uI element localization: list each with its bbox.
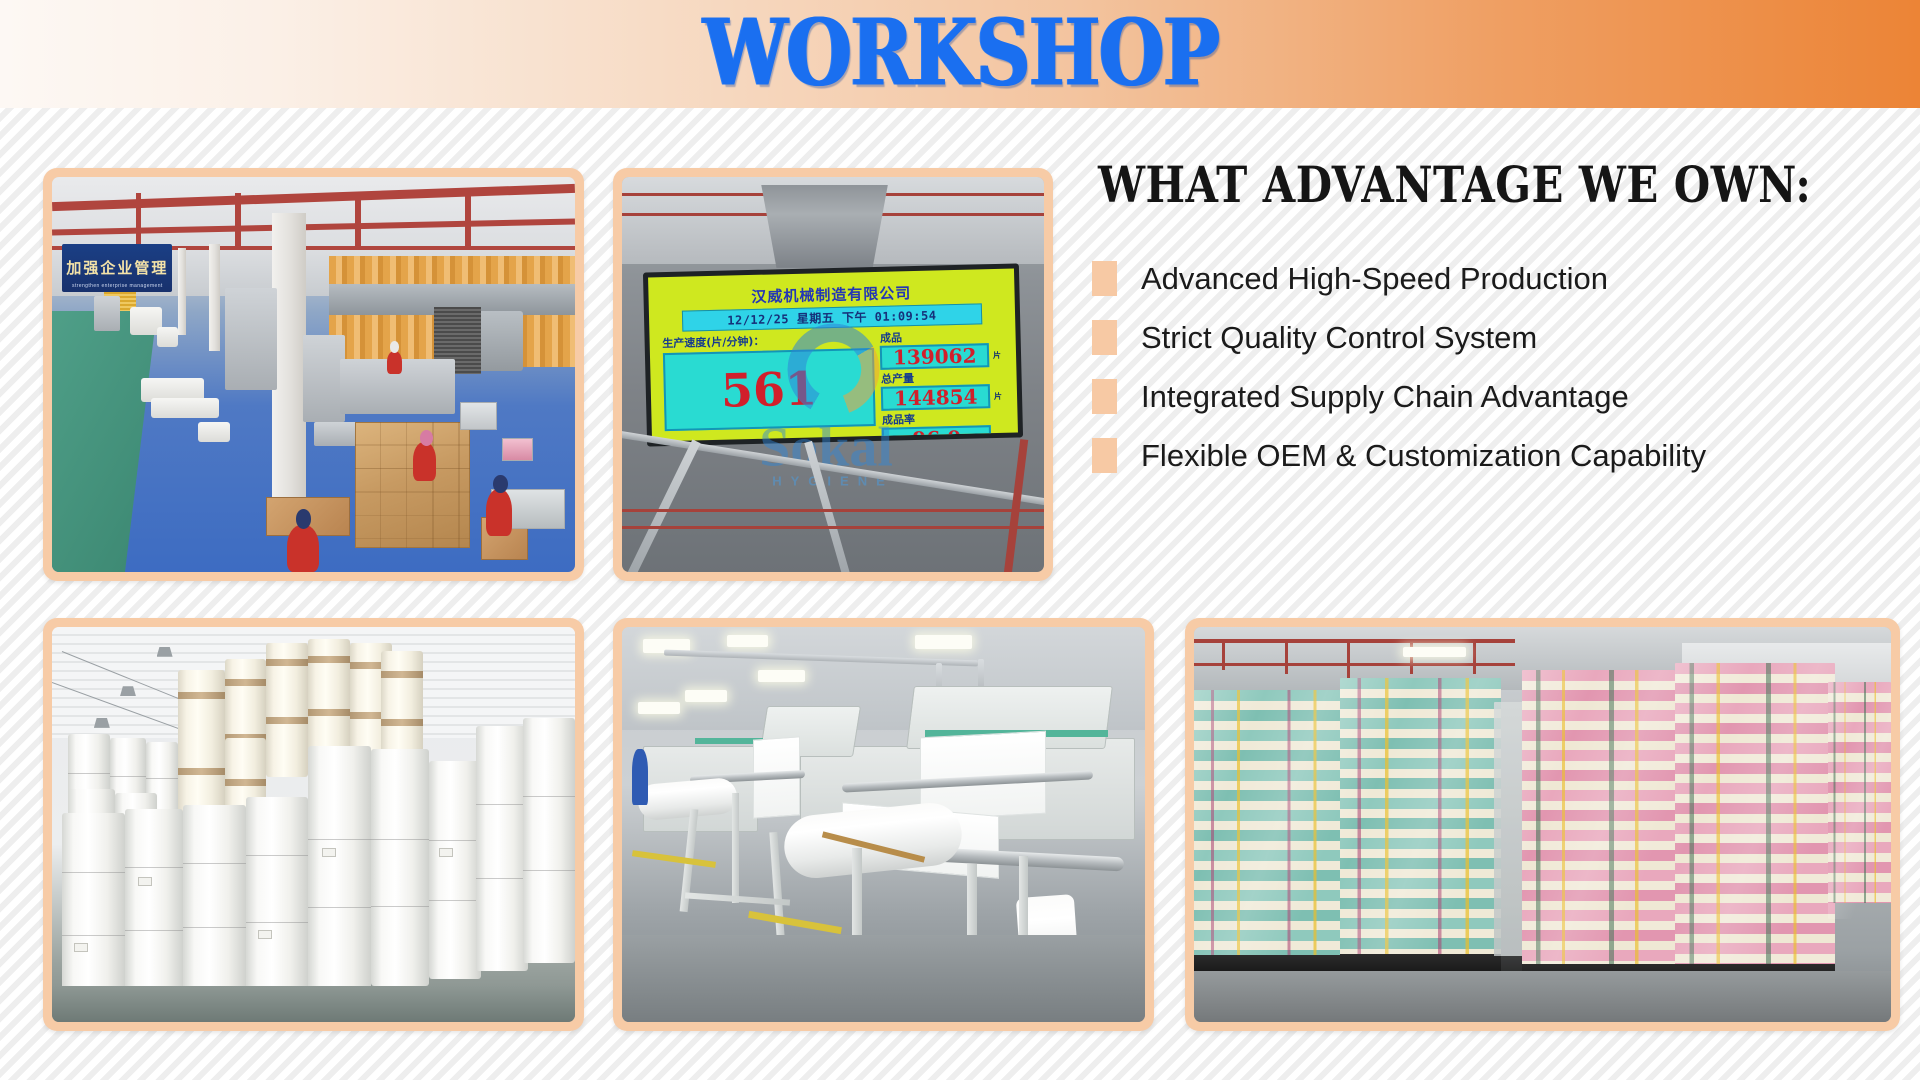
- display-row-box: 144854: [881, 384, 990, 411]
- hopper-duct: [761, 185, 888, 268]
- advantage-item-label: Strict Quality Control System: [1141, 322, 1537, 353]
- workshop-floor: [622, 935, 1145, 1022]
- ceiling-pipe: [1194, 663, 1515, 666]
- bale: [151, 398, 219, 418]
- worker: [486, 489, 512, 536]
- paper-roll: [476, 726, 528, 971]
- ceiling-post: [465, 193, 471, 248]
- photo-production-display: 汉威机械制造有限公司 12/12/25 星期五 下午 01:09:54 生产速度…: [622, 177, 1044, 572]
- worker-cap: [420, 430, 434, 446]
- display-speed-value: 561: [721, 365, 818, 413]
- ceiling-pipe: [1001, 439, 1027, 572]
- ceiling-pipe: [1285, 639, 1288, 675]
- advantage-item: Advanced High-Speed Production: [1092, 249, 1908, 308]
- paper-roll: [381, 651, 423, 766]
- paper-roll: [246, 797, 309, 998]
- warehouse-floor: [1194, 971, 1891, 1022]
- photo-frame-jumbo-rolls: [43, 618, 584, 1031]
- paper-roll: [429, 761, 481, 978]
- ceiling-post: [355, 193, 361, 248]
- advantage-item: Strict Quality Control System: [1092, 308, 1908, 367]
- paper-roll: [523, 718, 575, 963]
- machine: [225, 288, 277, 391]
- bale: [198, 422, 229, 442]
- worker: [387, 351, 403, 375]
- truss-bar: [804, 441, 853, 572]
- paper-roll: [183, 805, 246, 999]
- worker-cap: [493, 475, 508, 493]
- paper-roll: [308, 746, 371, 991]
- stretch-wrap-sheen: [1522, 670, 1675, 986]
- header-banner: WORKSHOP: [0, 0, 1920, 108]
- machine: [303, 335, 345, 422]
- photo-frame-production-display: 汉威机械制造有限公司 12/12/25 星期五 下午 01:09:54 生产速度…: [613, 168, 1053, 581]
- display-speed-box: 561: [663, 347, 876, 430]
- worker: [413, 442, 437, 482]
- paper-roll: [266, 643, 308, 777]
- operator: [632, 749, 648, 804]
- display-row-value: 144854: [894, 386, 978, 408]
- photo-jumbo-rolls: [52, 627, 575, 1022]
- photo-frame-factory-floor: 加强企业管理 strengthen enterprise management: [43, 168, 584, 581]
- bale: [157, 327, 178, 347]
- advantage-panel: WHAT ADVANTAGE WE OWN: Advanced High-Spe…: [1092, 160, 1908, 560]
- paper-roll: [308, 639, 350, 761]
- bullet-square-icon: [1092, 320, 1117, 355]
- wall-banner: 加强企业管理 strengthen enterprise management: [62, 244, 172, 291]
- pallet-teal: [1194, 690, 1347, 974]
- wall-banner-en-text: strengthen enterprise management: [72, 283, 163, 289]
- machine: [94, 296, 120, 332]
- crate: [460, 402, 497, 430]
- ceiling-pipe: [1194, 639, 1515, 643]
- pallet-pink: [1522, 670, 1675, 986]
- bullet-square-icon: [1092, 379, 1117, 414]
- display-row-unit: 片: [994, 390, 1002, 401]
- stretch-wrap-sheen: [1675, 663, 1835, 987]
- stretch-wrap-sheen: [1194, 690, 1347, 974]
- support-column: [178, 248, 186, 335]
- display-row-unit: %: [996, 431, 1003, 440]
- ceiling-pipe: [622, 509, 1044, 512]
- paper-roll: [62, 813, 125, 999]
- pallet-teal: [1340, 678, 1500, 974]
- ceiling-light: [758, 670, 805, 682]
- display-row-value: 139062: [893, 345, 977, 367]
- photo-finished-goods: [1194, 627, 1891, 1022]
- advantage-item: Flexible OEM & Customization Capability: [1092, 426, 1908, 485]
- ceiling-post: [235, 193, 241, 248]
- warehouse-floor: [52, 986, 575, 1022]
- photo-converting-line: [622, 627, 1145, 1022]
- carton-pallet-stack: [355, 422, 470, 548]
- paper-roll: [371, 749, 429, 986]
- advantage-item-label: Integrated Supply Chain Advantage: [1141, 381, 1629, 412]
- ceiling-light: [1403, 647, 1466, 657]
- display-row-box: 139062: [880, 343, 989, 370]
- display-row-value: 96.0: [912, 427, 961, 446]
- worker-cap: [390, 341, 399, 353]
- advantage-item-label: Flexible OEM & Customization Capability: [1141, 440, 1706, 471]
- advantage-list: Advanced High-Speed Production Strict Qu…: [1092, 249, 1908, 485]
- ceiling-light: [727, 635, 769, 647]
- yellow-guard-rail: [748, 911, 842, 934]
- workshop-poster: WORKSHOP 加强企业管理 strengthen enterprise ma…: [0, 0, 1920, 1080]
- worker: [287, 525, 318, 572]
- advantage-item-label: Advanced High-Speed Production: [1141, 263, 1608, 294]
- wall-banner-cn-text: 加强企业管理: [66, 257, 168, 278]
- bullet-square-icon: [1092, 261, 1117, 296]
- pallet-pink: [1828, 682, 1891, 919]
- bullet-square-icon: [1092, 438, 1117, 473]
- ceiling-pipe: [1473, 639, 1476, 675]
- stretch-wrap-sheen: [1828, 682, 1891, 919]
- display-row-box: 96.0: [882, 425, 991, 447]
- ceiling-post: [136, 193, 142, 248]
- worker-cap: [296, 509, 312, 529]
- ceiling-light: [638, 702, 680, 714]
- pallet-pink: [1675, 663, 1835, 987]
- advantage-heading: WHAT ADVANTAGE WE OWN:: [1098, 160, 1851, 210]
- page-title: WORKSHOP: [702, 8, 1217, 100]
- ceiling-light: [915, 635, 973, 649]
- ceiling-light: [685, 690, 727, 702]
- stretch-wrap-sheen: [1340, 678, 1500, 974]
- production-display-board: 汉威机械制造有限公司 12/12/25 星期五 下午 01:09:54 生产速度…: [643, 263, 1023, 446]
- advantage-item: Integrated Supply Chain Advantage: [1092, 367, 1908, 426]
- yellow-guard-rail: [632, 850, 716, 867]
- ceiling-pipe: [622, 526, 1044, 529]
- paper-roll: [125, 809, 183, 999]
- truss-bar: [622, 439, 700, 572]
- photo-frame-finished-goods: [1185, 618, 1900, 1031]
- photo-frame-converting-line: [613, 618, 1154, 1031]
- ceiling-pipe: [1347, 639, 1350, 679]
- ceiling-pipe: [1222, 639, 1225, 671]
- ceiling-truss: [622, 446, 1044, 572]
- crate: [502, 438, 533, 462]
- display-row-unit: 片: [993, 349, 1001, 360]
- walkway-marking: [52, 311, 157, 572]
- machine-leg: [732, 793, 739, 904]
- support-column: [209, 244, 221, 351]
- photo-factory-floor: 加强企业管理 strengthen enterprise management: [52, 177, 575, 572]
